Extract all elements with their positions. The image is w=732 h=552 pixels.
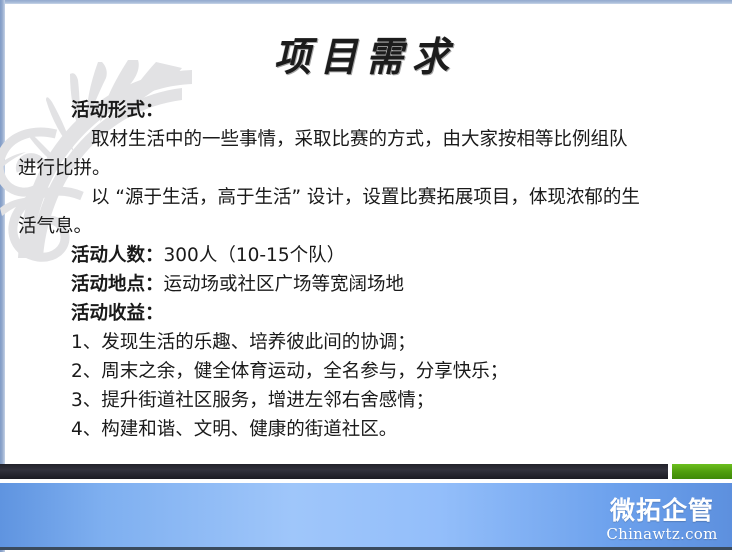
footer-blue-band (0, 483, 732, 550)
activity-form-para1-line1: 取材生活中的一些事情，采取比赛的方式，由大家按相等比例组队 (18, 125, 718, 154)
footer-green-accent-bar (672, 464, 732, 479)
activity-benefit-heading-label: 活动收益： (71, 303, 164, 324)
activity-count-value: 300人（10-15个队） (164, 245, 346, 266)
footer-dark-bar (0, 464, 668, 479)
activity-count-label: 活动人数： (71, 245, 164, 266)
activity-place-label: 活动地点： (71, 274, 164, 295)
activity-form-para2-line1: 以 “源于生活，高于生活” 设计，设置比赛拓展项目，体现浓郁的生 (18, 183, 718, 212)
benefit-list-item: 2、周末之余，健全体育运动，全名参与，分享快乐； (18, 357, 718, 386)
presentation-slide: 项目需求 活动形式： 取材生活中的一些事情，采取比赛的方式，由大家按相等比例组队… (0, 0, 732, 552)
benefit-list-item: 1、发现生活的乐趣、培养彼此间的协调； (18, 328, 718, 357)
benefit-list-item: 3、提升街道社区服务，增进左邻右舍感情； (18, 386, 718, 415)
slide-title: 项目需求 (0, 24, 732, 82)
slide-top-border (0, 0, 732, 4)
activity-place-row: 活动地点：运动场或社区广场等宽阔场地 (18, 270, 718, 299)
activity-form-para1-line2: 进行比拼。 (18, 154, 718, 183)
activity-form-para2-line2: 活气息。 (18, 212, 718, 241)
activity-form-heading: 活动形式： (18, 96, 718, 125)
benefit-list-item: 4、构建和谐、文明、健康的街道社区。 (18, 415, 718, 444)
slide-body: 活动形式： 取材生活中的一些事情，采取比赛的方式，由大家按相等比例组队 进行比拼… (18, 96, 718, 444)
activity-form-heading-label: 活动形式： (71, 100, 164, 121)
activity-place-value: 运动场或社区广场等宽阔场地 (164, 274, 405, 295)
activity-count-row: 活动人数：300人（10-15个队） (18, 241, 718, 270)
activity-benefit-heading: 活动收益： (18, 299, 718, 328)
